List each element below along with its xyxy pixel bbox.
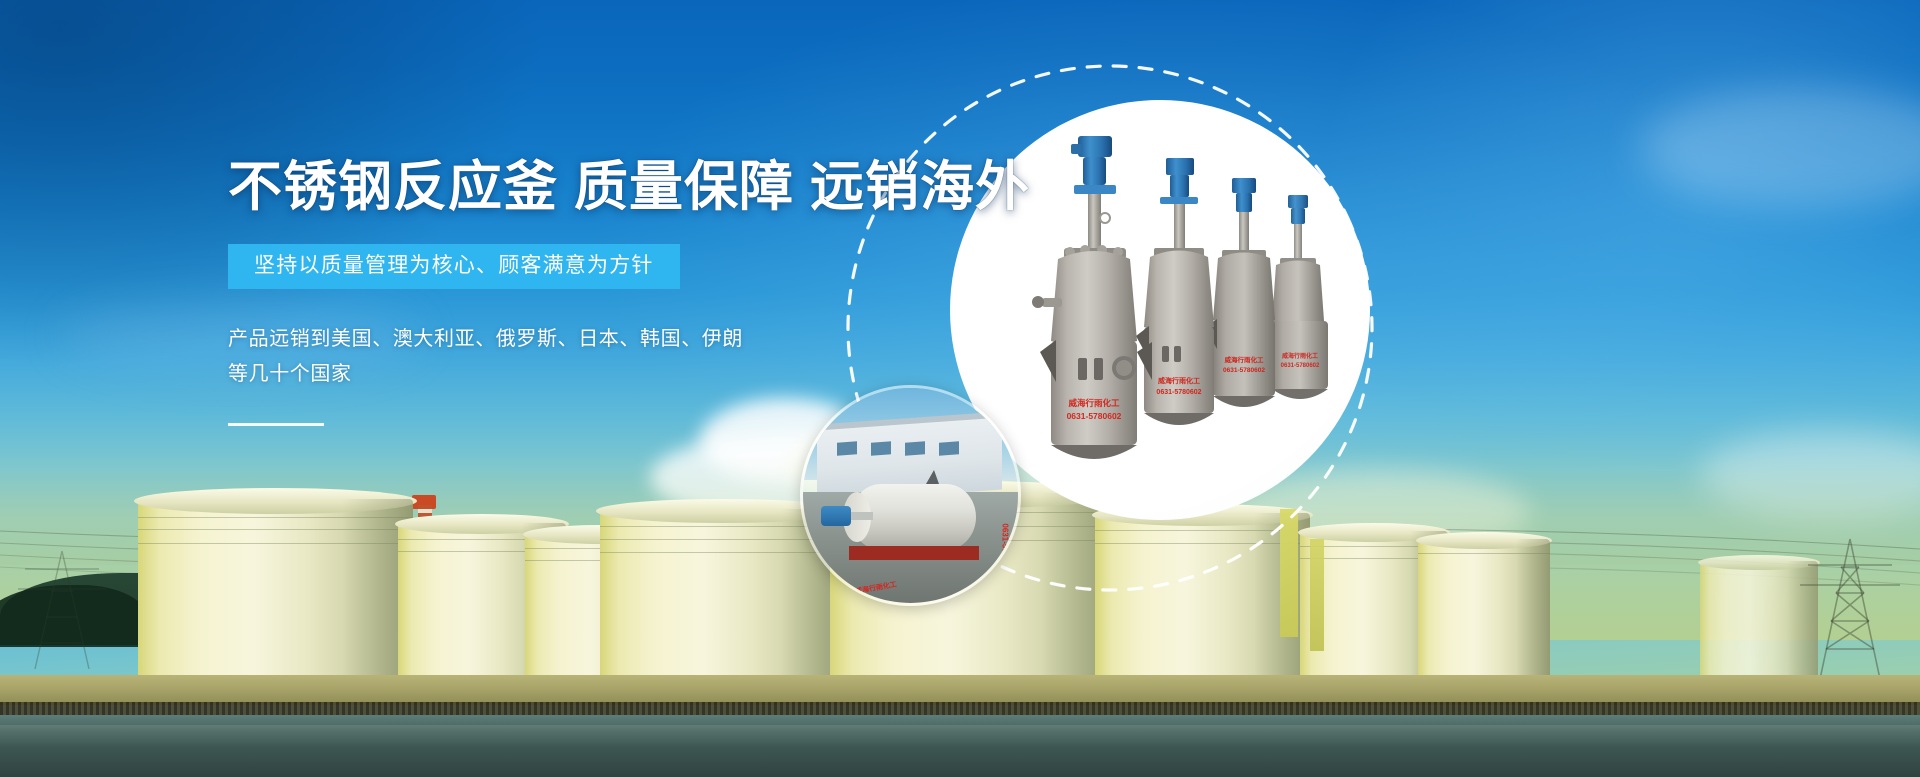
svg-text:0631-5780602: 0631-5780602 [1067, 411, 1122, 421]
water-sheen [0, 725, 1920, 747]
shore-piling [0, 702, 1920, 715]
banner-copy: 不锈钢反应釜 质量保障 远销海外 坚持以质量管理为核心、顾客满意为方针 产品远销… [228, 160, 928, 426]
factory-window [871, 441, 891, 455]
reactor-motor [821, 506, 851, 526]
hero-banner: 威海行雨化工 0631-5780602 威海行雨化工 0631-5780602 [0, 0, 1920, 777]
reactor-brand-text-small: 0631-5780602 [1000, 523, 1010, 575]
slogan-text: 坚持以质量管理为核心、顾客满意为方针 [254, 254, 654, 277]
svg-text:威海行雨化工: 威海行雨化工 [1282, 352, 1318, 360]
factory-window [837, 441, 857, 455]
transmission-tower-left [10, 539, 130, 669]
svg-text:威海行雨化工: 威海行雨化工 [1158, 376, 1200, 385]
page-title: 不锈钢反应釜 质量保障 远销海外 [228, 160, 928, 214]
factory-window [939, 441, 959, 455]
description-line-2: 等几十个国家 [228, 357, 928, 392]
svg-text:0631-5780602: 0631-5780602 [1281, 363, 1320, 369]
transmission-tower [1790, 529, 1920, 679]
reactor-shaft [849, 512, 873, 520]
accent-divider [228, 423, 324, 426]
svg-text:威海行雨化工: 威海行雨化工 [1067, 398, 1120, 408]
description-block: 产品远销到美国、澳大利亚、俄罗斯、日本、韩国、伊朗 等几十个国家 [228, 322, 928, 392]
slogan-badge: 坚持以质量管理为核心、顾客满意为方针 [228, 244, 680, 289]
description-line-1: 产品远销到美国、澳大利亚、俄罗斯、日本、韩国、伊朗 [228, 322, 928, 357]
storage-tank [1418, 539, 1550, 681]
svg-text:0631-5780602: 0631-5780602 [1223, 367, 1265, 374]
shore-embankment [0, 675, 1920, 705]
factory-window [905, 441, 925, 455]
reactor-trailer-base [849, 546, 979, 560]
svg-text:威海行雨化工: 威海行雨化工 [1225, 355, 1265, 364]
storage-tank [138, 499, 413, 681]
svg-text:0631-5780602: 0631-5780602 [1156, 389, 1201, 396]
